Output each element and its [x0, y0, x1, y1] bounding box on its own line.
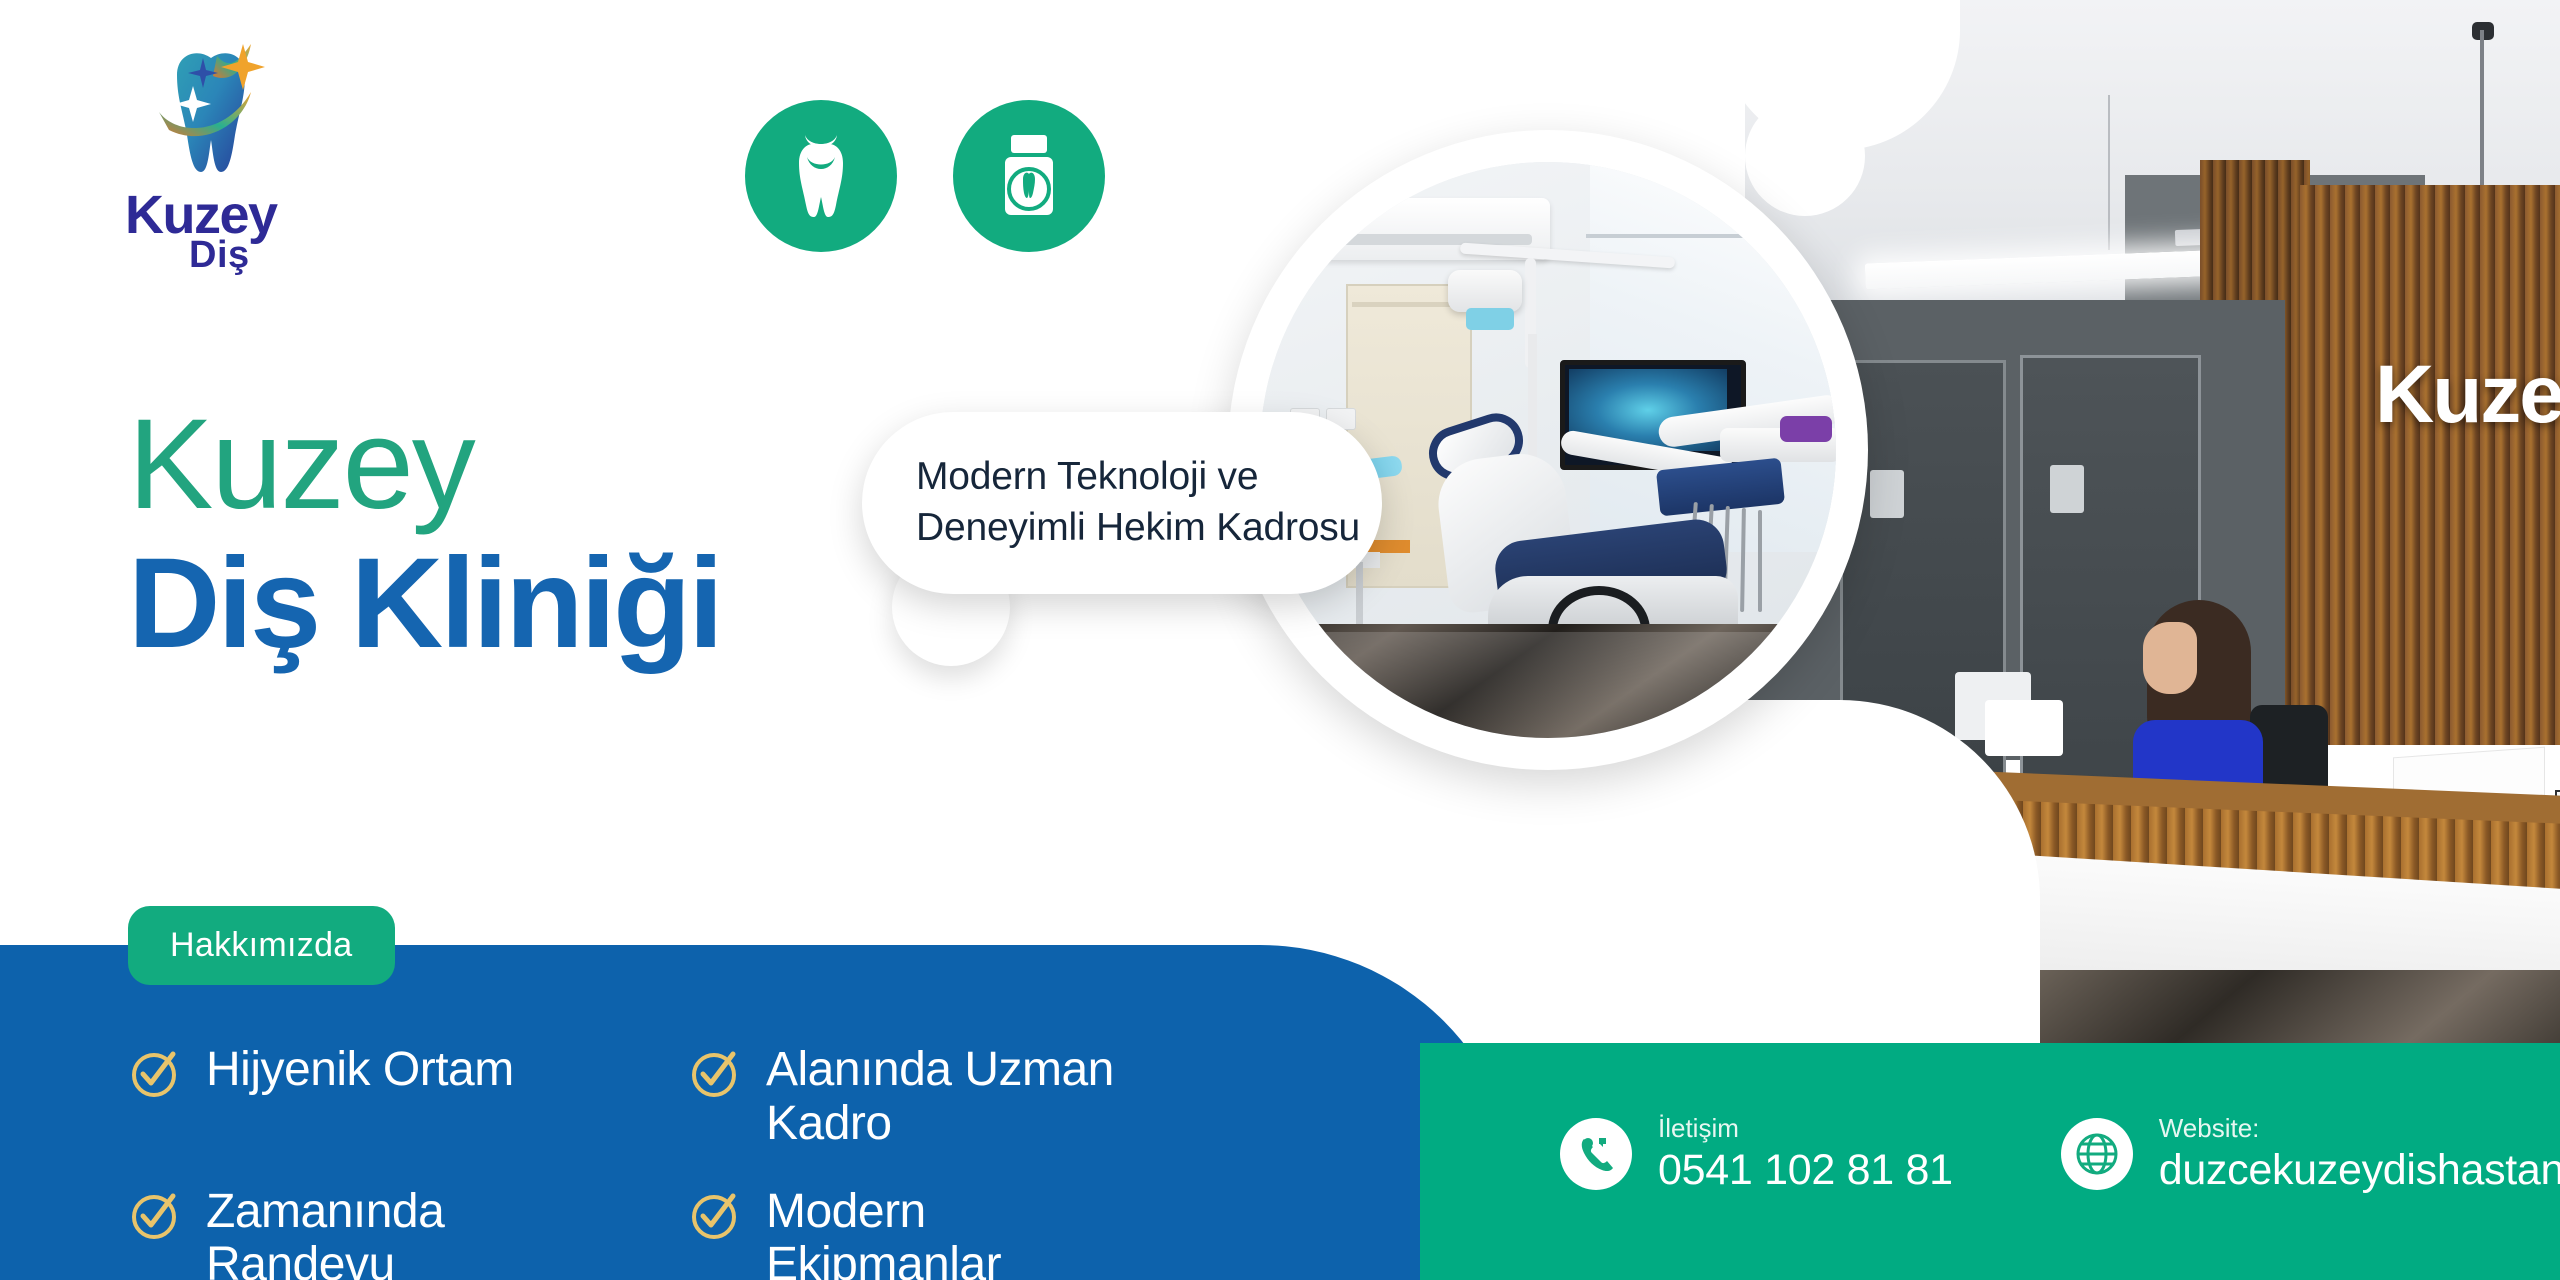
tooth-logo-icon	[147, 40, 277, 180]
door-trim	[1352, 302, 1462, 307]
tray-handle	[1780, 416, 1832, 442]
feature-item: Modern Ekipmanlar	[688, 1185, 1208, 1280]
feature-label: Alanında Uzman Kadro	[766, 1043, 1166, 1151]
phone-icon	[1560, 1118, 1632, 1190]
white-bottom-blob	[1620, 700, 2040, 1060]
floor-reflection	[1260, 632, 1836, 738]
contact-phone-label: İletişim	[1658, 1112, 1953, 1145]
service-icon-medicine-bottle[interactable]	[953, 100, 1105, 252]
check-circle-icon	[128, 1189, 180, 1246]
ac-vent	[1332, 234, 1532, 245]
logo[interactable]: Kuzey Diş	[125, 40, 315, 280]
service-icon-tooth-filling[interactable]	[745, 100, 897, 252]
about-badge[interactable]: Hakkımızda	[128, 906, 395, 985]
contact-group: İletişim 0541 102 81 81 Website: duzceku…	[1560, 1112, 2560, 1196]
contact-website[interactable]: Website: duzcekuzeydishastanesi.com	[2061, 1112, 2560, 1196]
feature-item: Hijyenik Ortam	[128, 1043, 628, 1151]
contact-phone[interactable]: İletişim 0541 102 81 81	[1560, 1112, 1953, 1196]
feature-item: Alanında Uzman Kadro	[688, 1043, 1208, 1151]
receptionist-face	[2143, 622, 2197, 694]
feature-item: Zamanında Randevu	[128, 1185, 628, 1280]
feature-label: Hijyenik Ortam	[206, 1043, 514, 1097]
contact-phone-value: 0541 102 81 81	[1658, 1145, 1953, 1197]
desk-paper-stack	[1985, 700, 2063, 756]
dental-light-head	[1448, 270, 1522, 312]
dental-light-lens	[1466, 308, 1514, 330]
contact-website-label: Website:	[2159, 1112, 2560, 1145]
feature-label: Modern Ekipmanlar	[766, 1185, 1166, 1280]
check-circle-icon	[128, 1047, 180, 1104]
medicine-bottle-icon	[991, 133, 1067, 219]
logo-subtitle: Diş	[189, 236, 250, 274]
speech-bubble-line-2: Deneyimli Hekim Kadrosu	[916, 503, 1360, 554]
wall-sign-text: Kuzey	[2375, 348, 2560, 442]
light-rod-2	[2108, 95, 2110, 250]
door-plate-right	[2050, 465, 2084, 513]
globe-icon	[2061, 1118, 2133, 1190]
contact-phone-text: İletişim 0541 102 81 81	[1658, 1112, 1953, 1196]
contact-website-text: Website: duzcekuzeydishastanesi.com	[2159, 1112, 2560, 1196]
service-icons	[745, 100, 1105, 252]
speech-bubble: Modern Teknoloji ve Deneyimli Hekim Kadr…	[862, 412, 1382, 594]
clinic-banner: Kuzey	[0, 0, 2560, 1280]
check-circle-icon	[688, 1047, 740, 1104]
equipment-pole	[1528, 334, 1537, 474]
door-plate-left	[1870, 470, 1904, 518]
tooth-filling-icon	[781, 133, 861, 219]
check-circle-icon	[688, 1189, 740, 1246]
speech-bubble-text: Modern Teknoloji ve Deneyimli Hekim Kadr…	[916, 452, 1360, 553]
window-frame	[1586, 234, 1836, 238]
wood-slat-wall	[2300, 185, 2560, 745]
hose-5	[1758, 510, 1762, 612]
speech-bubble-line-1: Modern Teknoloji ve	[916, 452, 1360, 503]
contact-website-value: duzcekuzeydishastanesi.com	[2159, 1145, 2560, 1197]
feature-list: Hijyenik Ortam Alanında Uzman Kadro Zama…	[128, 1043, 1208, 1280]
feature-label: Zamanında Randevu	[206, 1185, 606, 1280]
